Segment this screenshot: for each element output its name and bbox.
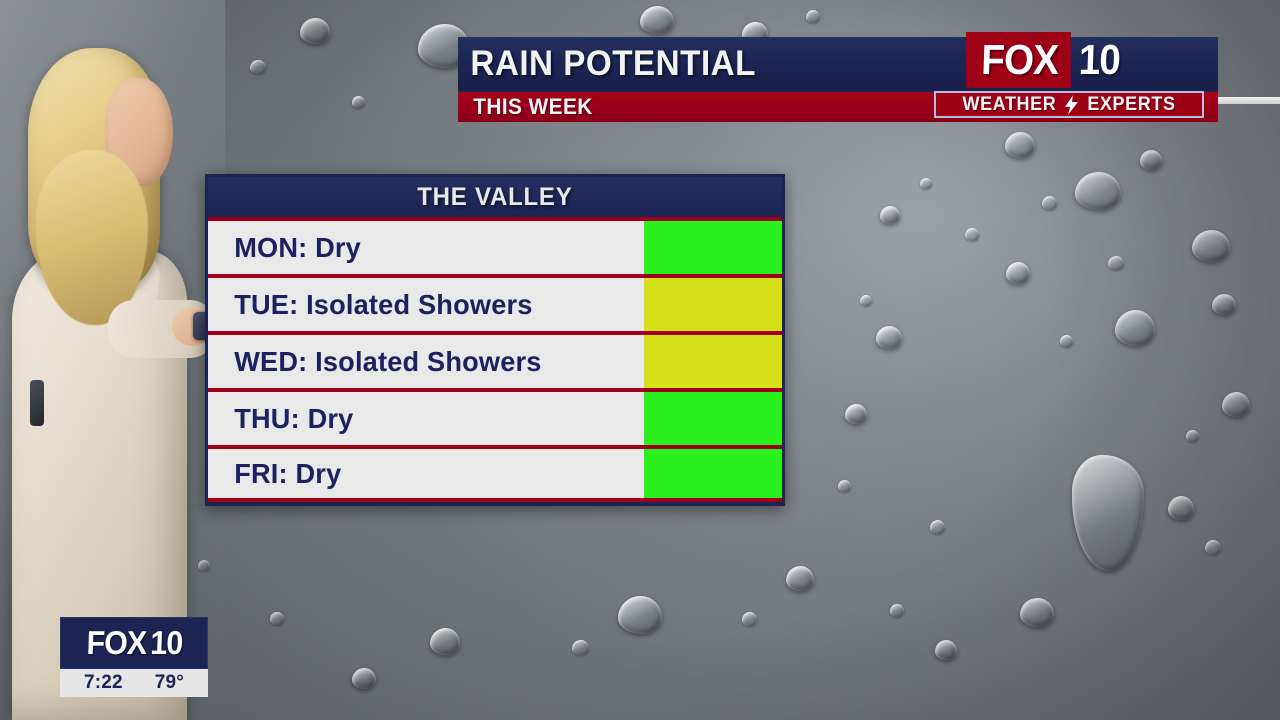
channel-text: 10 [1078,39,1120,81]
station-bug: FOX10 7:22 79° [60,617,208,697]
lightning-bolt-icon [1065,95,1078,115]
network-logo-row: FOX 10 [966,32,1204,88]
risk-swatch [644,335,782,388]
table-row: TUE: Isolated Showers [208,274,782,331]
current-temperature: 79° [155,672,184,694]
page-subtitle: THIS WEEK [458,94,593,120]
table-row: FRI: Dry [208,445,782,502]
forecast-label: TUE: Isolated Showers [208,278,631,331]
microphone-pack-icon [30,380,44,426]
bug-fox-text: FOX [86,624,147,662]
weather-label: WEATHER [962,94,1056,116]
station-bug-info: 7:22 79° [60,669,208,697]
station-bug-logo: FOX10 [60,617,208,669]
table-row: THU: Dry [208,388,782,445]
forecast-label: FRI: Dry [208,449,631,498]
channel-number: 10 [1071,32,1130,88]
experts-label: EXPERTS [1088,94,1176,116]
bug-channel-text: 10 [150,624,183,662]
forecast-label: MON: Dry [208,221,631,274]
forecast-panel: THE VALLEY MON: Dry TUE: Isolated Shower… [205,174,785,506]
clock-time: 7:22 [84,672,123,694]
risk-swatch [644,449,782,498]
forecast-label: WED: Isolated Showers [208,335,631,388]
forecast-label: THU: Dry [208,392,631,445]
risk-swatch [644,392,782,445]
broadcast-screen: RAIN POTENTIAL THIS WEEK FOX 10 WEATHER … [0,0,1280,720]
risk-swatch [644,221,782,274]
network-logo: FOX 10 WEATHER EXPERTS [966,32,1204,118]
region-header: THE VALLEY [208,177,782,217]
risk-swatch [644,278,782,331]
meteorologist [0,0,225,720]
fox-text: FOX [981,39,1059,81]
region-header-label: THE VALLEY [417,183,572,212]
table-row: MON: Dry [208,217,782,274]
page-title: RAIN POTENTIAL [458,44,756,84]
fox-wordmark: FOX [966,32,1071,88]
weather-experts-badge: WEATHER EXPERTS [934,91,1204,118]
table-row: WED: Isolated Showers [208,331,782,388]
forecast-rows: MON: Dry TUE: Isolated Showers WED: Isol… [208,217,782,503]
